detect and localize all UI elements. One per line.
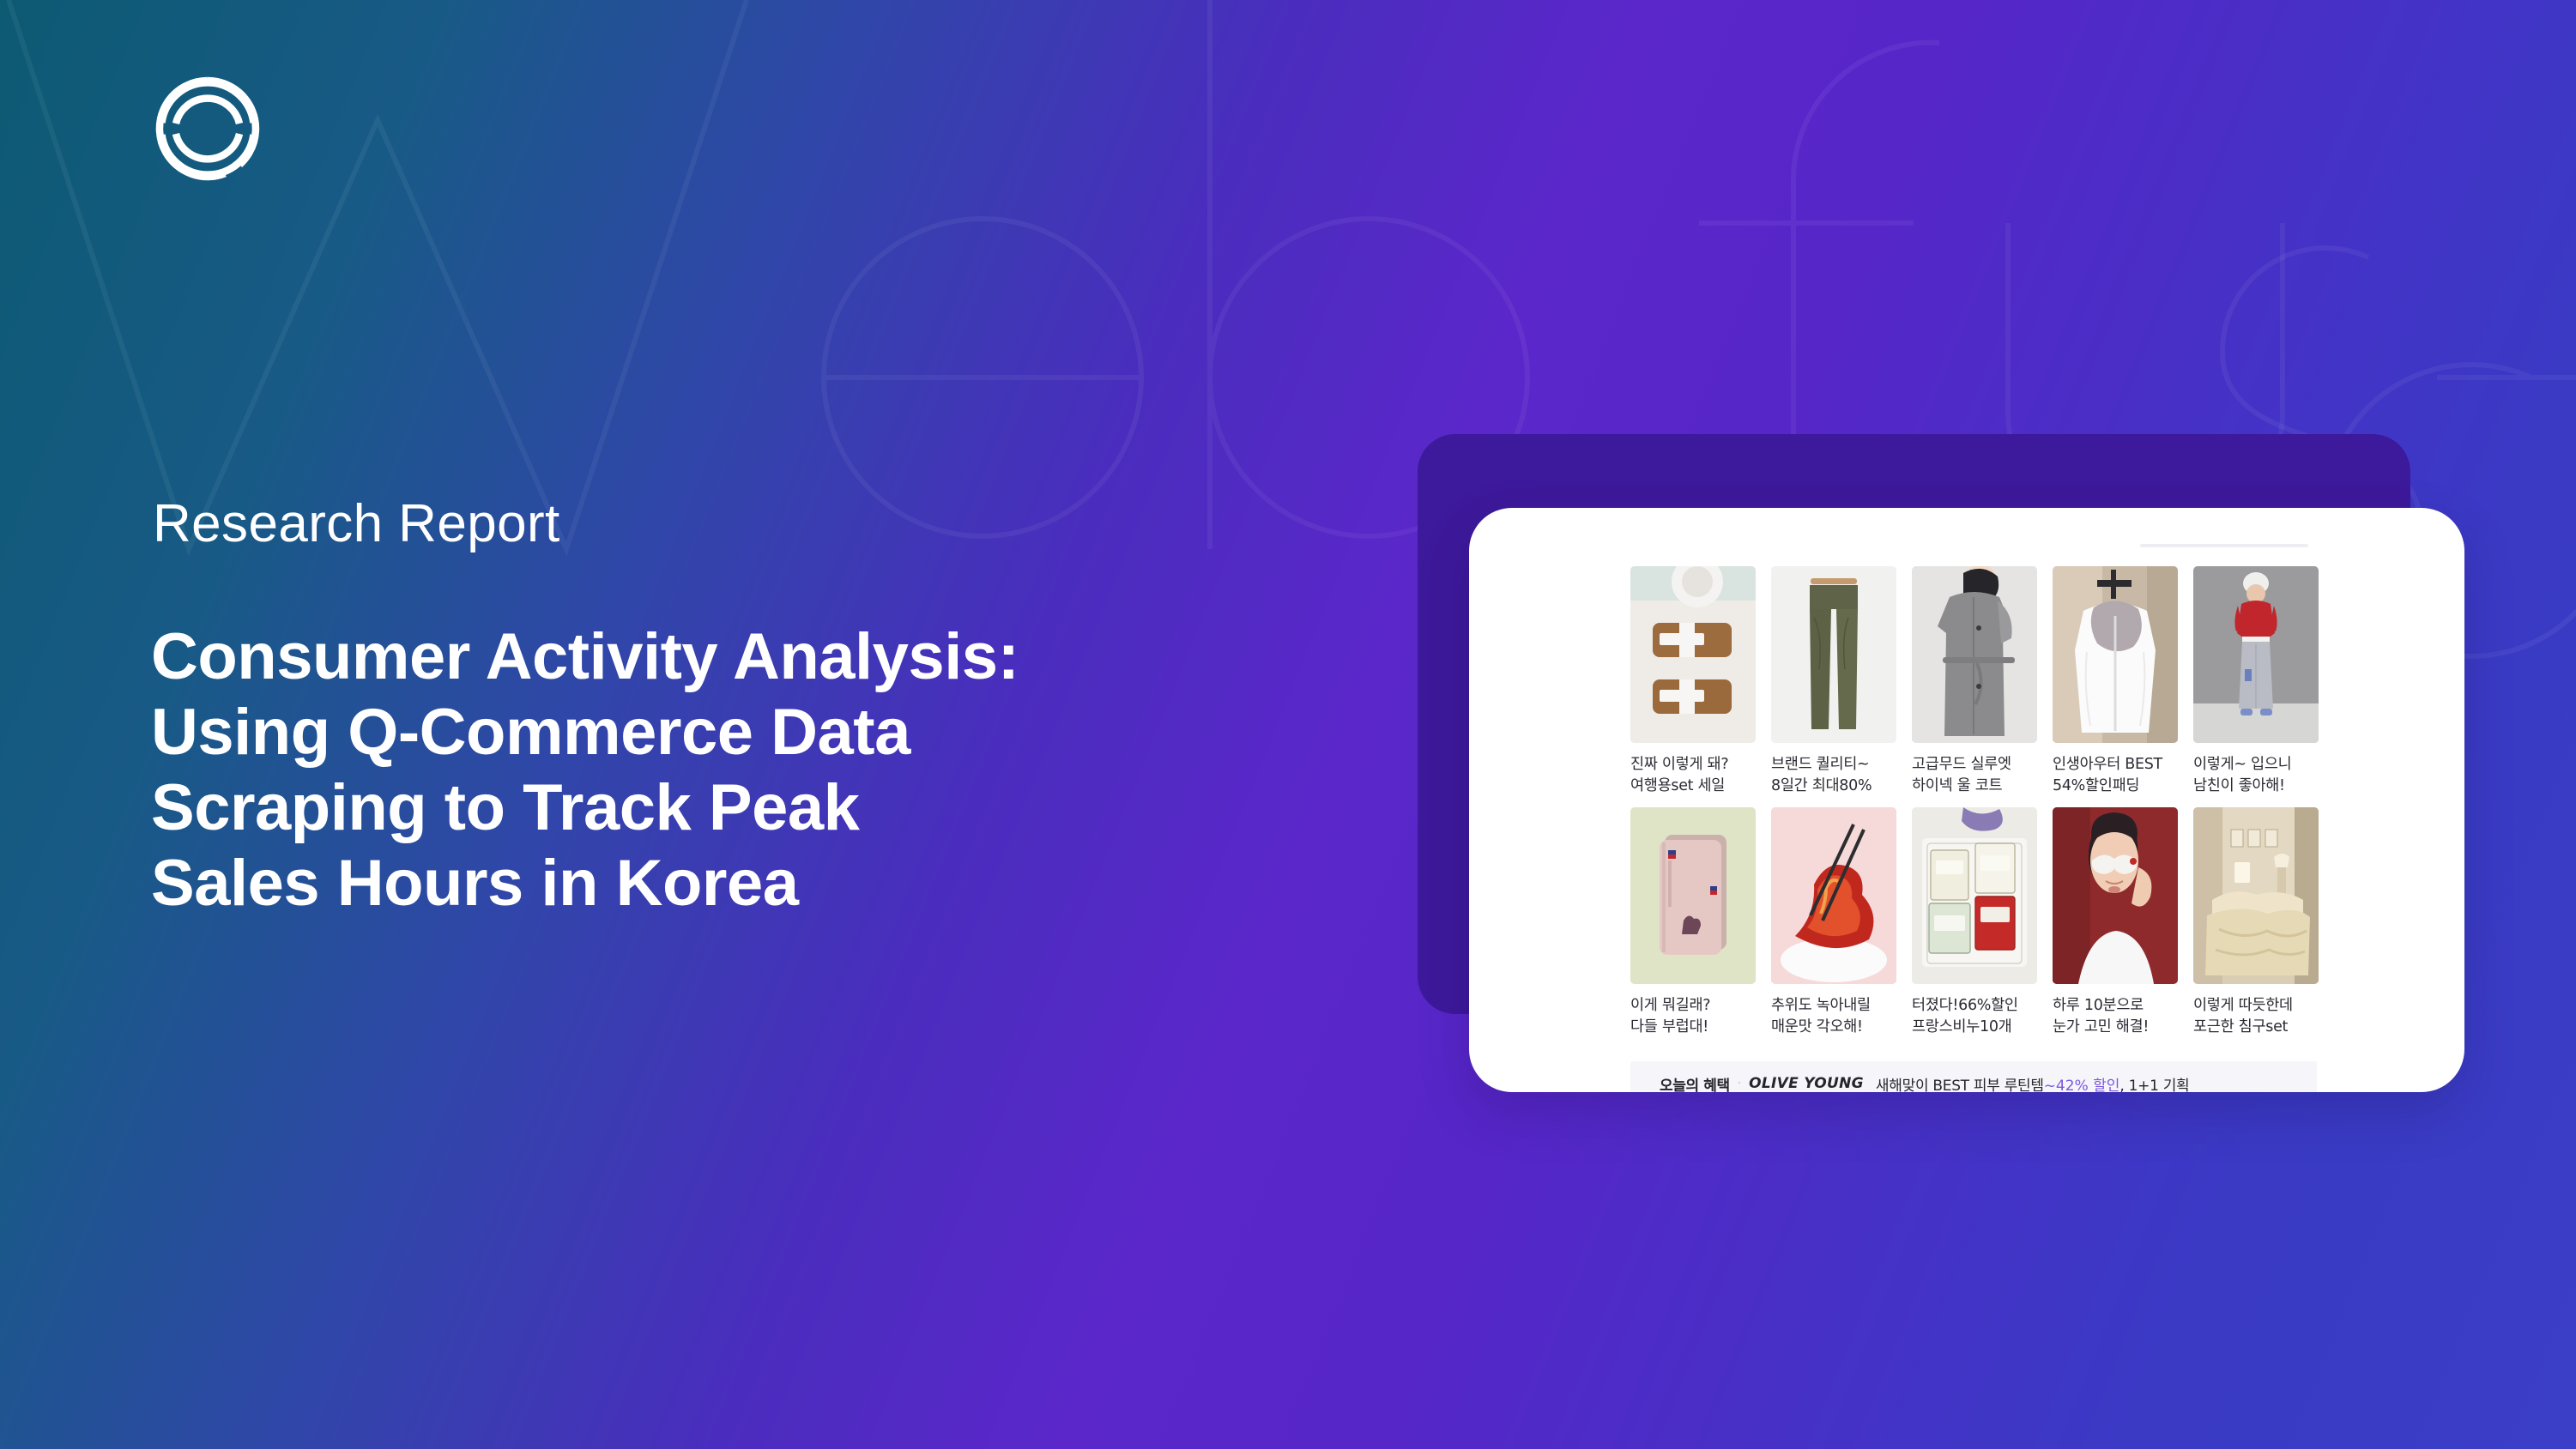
product-tile[interactable]: 하루 10분으로 눈가 고민 해결! (2053, 807, 2178, 1038)
title-line-1: Consumer Activity Analysis: (151, 619, 1335, 695)
fur-collar-white-padding-photo (2053, 566, 2178, 743)
deal-tag-label: 오늘의 혜택 (1660, 1073, 1730, 1092)
product-label: 하루 10분으로 눈가 고민 해결! (2053, 995, 2178, 1038)
webfuse-logo[interactable] (153, 74, 263, 184)
cozy-bedding-set-photo (2193, 807, 2319, 984)
travel-set-bundle-photo (1630, 566, 1756, 743)
page-title: Consumer Activity Analysis: Using Q-Comm… (151, 619, 1335, 922)
title-line-4: Sales Hours in Korea (151, 846, 1335, 921)
product-tile[interactable]: 이렇게~ 입으니 남친이 좋아해! (2193, 566, 2319, 797)
red-top-grey-pants-outfit-photo (2193, 566, 2319, 743)
product-label: 진짜 이렇게 돼? 여행용set 세일 (1630, 754, 1756, 797)
title-line-3: Scraping to Track Peak (151, 770, 1335, 846)
deal-text-before: 새해맞이 BEST 피부 루틴템 (1876, 1073, 2044, 1092)
product-label: 인생아우터 BEST 54%할인패딩 (2053, 754, 2178, 797)
deal-text-after: , 1+1 기획 (2119, 1073, 2189, 1092)
product-tile[interactable]: 이렇게 따듯한데 포근한 침구set (2193, 807, 2319, 1038)
product-label: 고급무드 실루엣 하이넥 울 코트 (1912, 754, 2037, 797)
grey-wool-coat-photo (1912, 566, 2037, 743)
product-tile[interactable]: 브랜드 퀄리티~ 8일간 최대80% (1771, 566, 1896, 797)
product-label: 이렇게 따듯한데 포근한 침구set (2193, 995, 2319, 1038)
product-label: 추위도 녹아내릴 매운맛 각오해! (1771, 995, 1896, 1038)
pink-portable-device-photo (1630, 807, 1756, 984)
deal-brand-label: OLIVE YOUNG (1749, 1075, 1864, 1092)
deal-separator: · (1738, 1077, 1741, 1090)
product-label: 터졌다!66%할인 프랑스비누10개 (1912, 995, 2037, 1038)
french-soap-gift-box-photo (1912, 807, 2037, 984)
title-line-2: Using Q-Commerce Data (151, 695, 1335, 770)
spicy-korean-food-photo (1771, 807, 1896, 984)
deal-discount-accent: ~42% 할인 (2044, 1073, 2120, 1092)
poster-canvas: Research Report Consumer Activity Analys… (0, 0, 2576, 1449)
product-tile[interactable]: 고급무드 실루엣 하이넥 울 코트 (1912, 566, 2037, 797)
product-label: 이게 뭐길래? 다들 부럽대! (1630, 995, 1756, 1038)
product-tile[interactable]: 터졌다!66%할인 프랑스비누10개 (1912, 807, 2037, 1038)
daily-deal-banner[interactable]: 오늘의 혜택 · OLIVE YOUNG 새해맞이 BEST 피부 루틴템 ~4… (1630, 1061, 2317, 1092)
product-tile[interactable]: 인생아우터 BEST 54%할인패딩 (2053, 566, 2178, 797)
product-label: 브랜드 퀄리티~ 8일간 최대80% (1771, 754, 1896, 797)
product-tile[interactable]: 이게 뭐길래? 다들 부럽대! (1630, 807, 1756, 1038)
report-kicker: Research Report (153, 498, 560, 551)
commerce-mockup-card: 진짜 이렇게 돼? 여행용set 세일 (1469, 508, 2464, 1092)
olive-wide-pants-photo (1771, 566, 1896, 743)
eye-care-mask-model-photo (2053, 807, 2178, 984)
product-tile[interactable]: 진짜 이렇게 돼? 여행용set 세일 (1630, 566, 1756, 797)
placeholder-bar (2140, 544, 2308, 547)
product-grid: 진짜 이렇게 돼? 여행용set 세일 (1630, 566, 2317, 1037)
product-tile[interactable]: 추위도 녹아내릴 매운맛 각오해! (1771, 807, 1896, 1038)
product-label: 이렇게~ 입으니 남친이 좋아해! (2193, 754, 2319, 797)
